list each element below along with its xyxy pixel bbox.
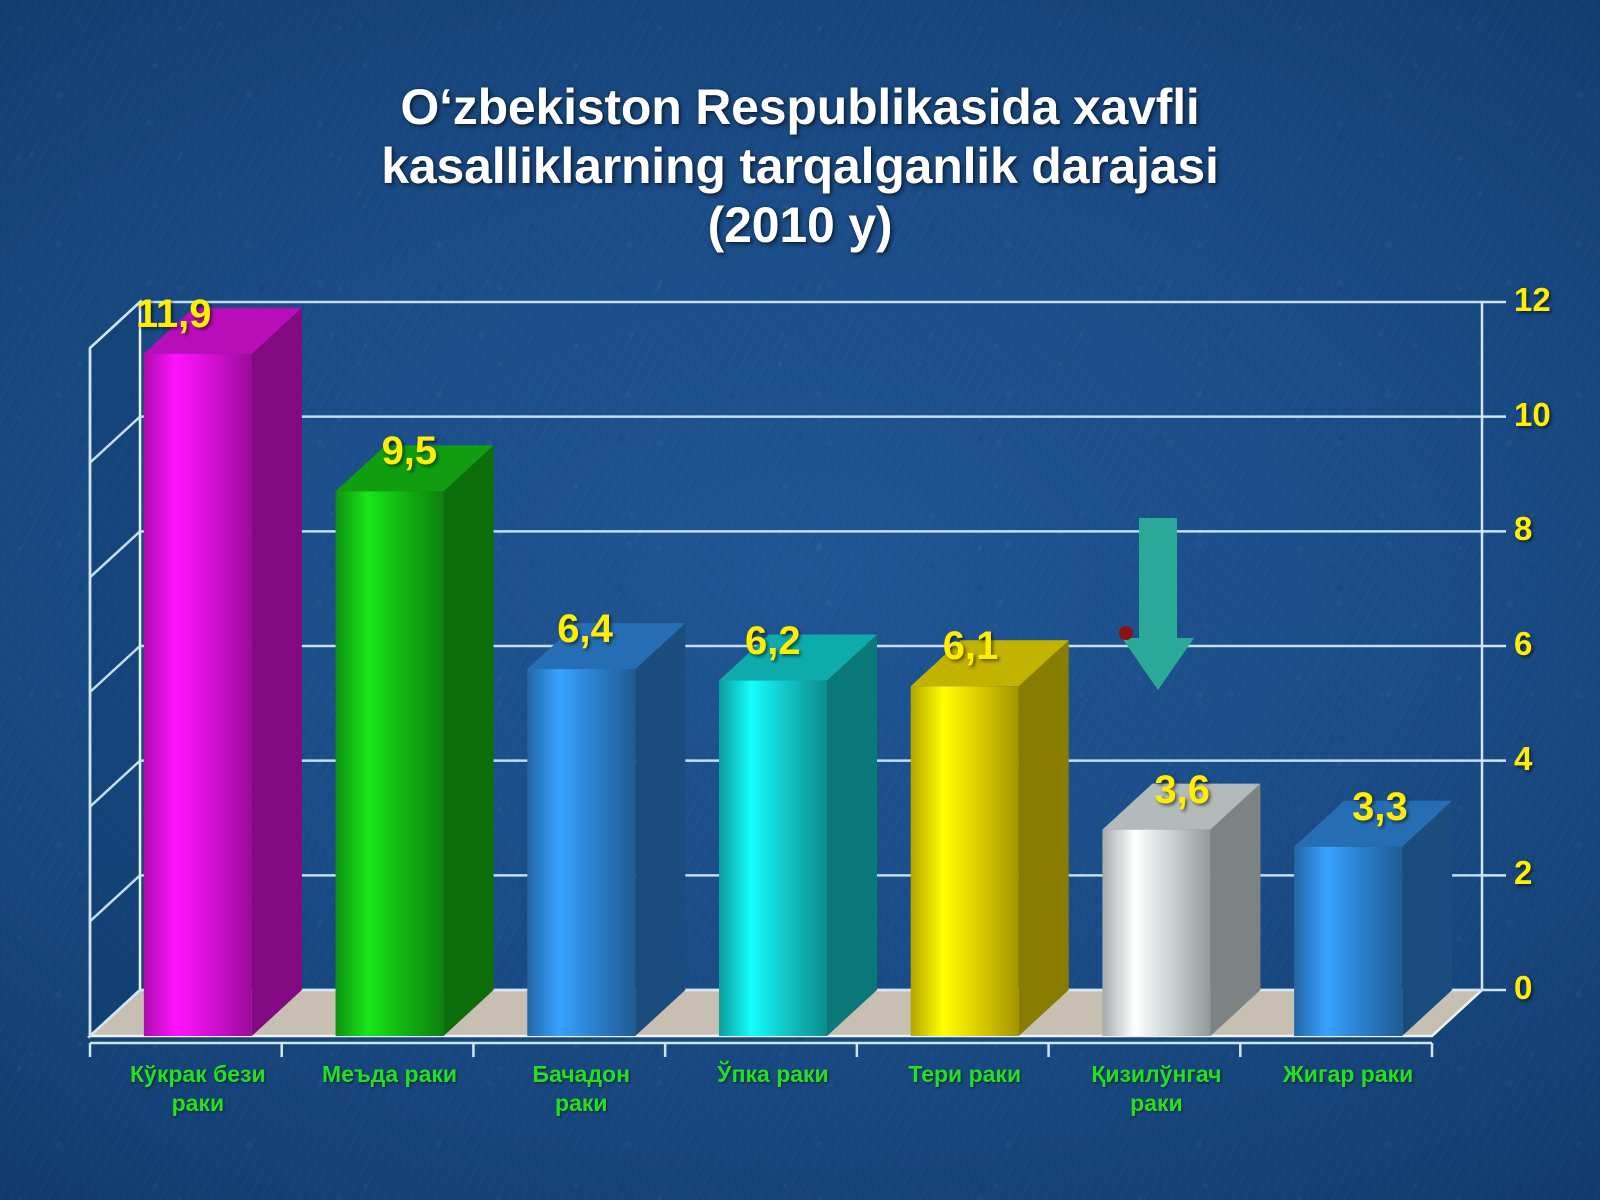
bar-front-face (144, 354, 252, 1036)
bar-value-label: 6,1 (943, 624, 999, 669)
bar (911, 640, 1069, 1036)
bar-front-face (911, 686, 1019, 1036)
bar (336, 445, 494, 1036)
bar-front-face (336, 491, 444, 1036)
bar-front-face (1102, 830, 1210, 1036)
page-title: O‘zbekiston Respublikasida xavfli kasall… (150, 78, 1450, 255)
bar-value-label: 3,6 (1154, 768, 1210, 813)
slide-canvas: O‘zbekiston Respublikasida xavfli kasall… (0, 0, 1600, 1200)
bar-side-face (827, 635, 877, 1036)
bar (719, 635, 877, 1036)
title-line-3: (2010 y) (150, 196, 1450, 255)
bar (1294, 801, 1452, 1036)
bar-side-face (635, 623, 685, 1036)
title-line-1: O‘zbekiston Respublikasida xavfli (150, 78, 1450, 137)
y-axis-tick-label: 4 (1514, 740, 1532, 778)
bar-side-face (1019, 640, 1069, 1036)
y-axis-tick-label: 0 (1514, 969, 1532, 1007)
bar-front-face (527, 669, 635, 1036)
y-axis-tick-label: 6 (1514, 625, 1532, 663)
bar-side-face (444, 445, 494, 1036)
y-axis-tick-label: 10 (1514, 396, 1551, 434)
bar-value-label: 3,3 (1352, 785, 1408, 830)
bar (1102, 784, 1260, 1036)
down-arrow-icon (1122, 518, 1194, 690)
bar-front-face (1294, 847, 1402, 1036)
bar-value-label: 6,2 (745, 619, 801, 664)
bar (144, 308, 302, 1036)
bar-value-label: 11,9 (136, 292, 212, 337)
bar-front-face (719, 681, 827, 1036)
annotation-arrow (1122, 518, 1194, 690)
bar-side-face (252, 308, 302, 1036)
x-axis-category-label: Бачадон раки (477, 1060, 685, 1119)
bar (527, 623, 685, 1036)
red-dot-marker (1119, 626, 1133, 640)
x-axis-category-label: Кўкрак бези раки (94, 1060, 302, 1119)
y-axis-tick-label: 8 (1514, 510, 1532, 548)
bar-value-label: 6,4 (557, 607, 613, 652)
x-axis-category-label: Меъда раки (286, 1060, 494, 1089)
x-axis-category-label: Жигар раки (1244, 1060, 1452, 1089)
x-axis-category-label: Тери раки (861, 1060, 1069, 1089)
title-line-2: kasalliklarning tarqalganlik darajasi (150, 137, 1450, 196)
x-axis-category-label: Ўпка раки (669, 1060, 877, 1089)
y-axis-tick-label: 2 (1514, 854, 1532, 892)
category-axis (90, 1043, 1432, 1057)
x-axis-category-label: Қизилўнгач раки (1053, 1060, 1261, 1119)
y-axis-tick-label: 12 (1514, 281, 1551, 319)
bar-value-label: 9,5 (382, 429, 438, 474)
